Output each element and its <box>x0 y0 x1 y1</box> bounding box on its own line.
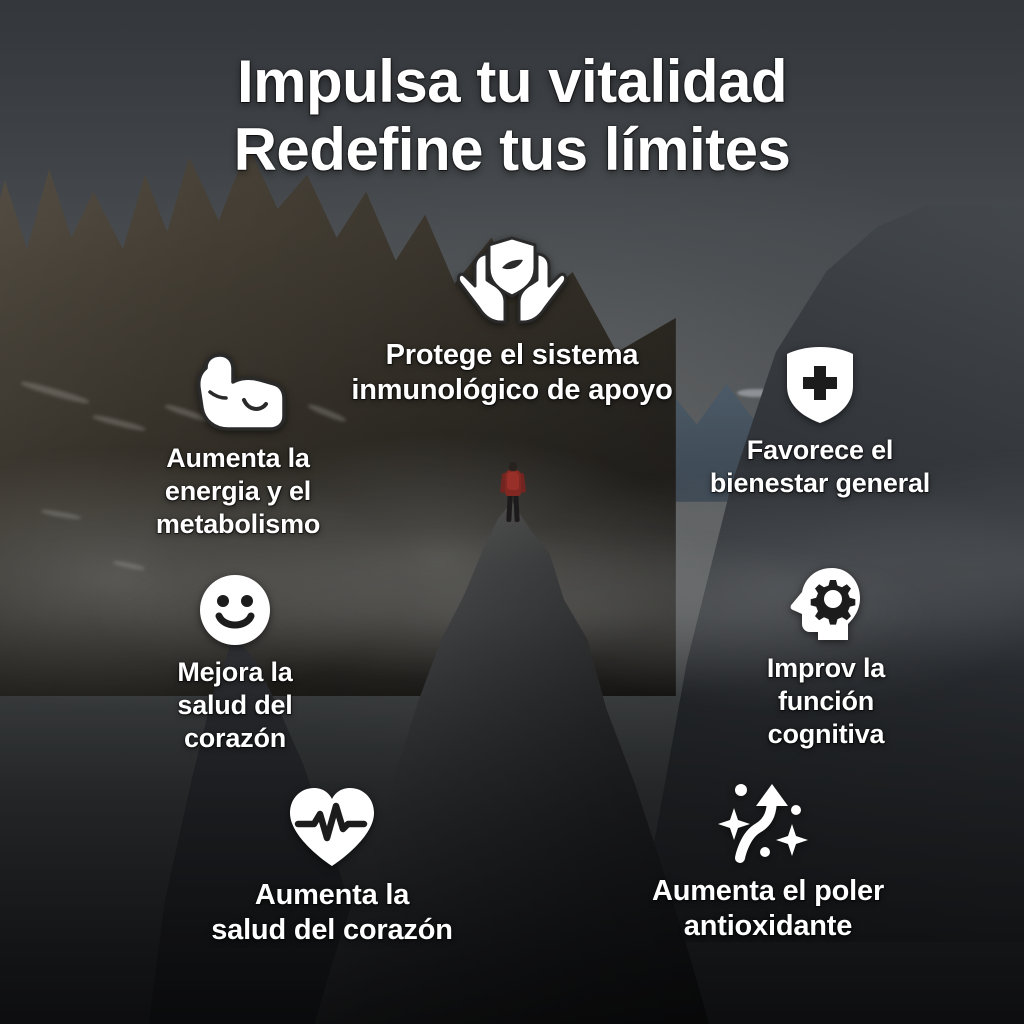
benefit-energy: Aumenta la energia y el metabolismo <box>88 352 388 541</box>
head-gear-icon <box>686 566 966 644</box>
benefit-label: Aumenta la salud del corazón <box>160 878 504 949</box>
benefit-antioxidant: Aumenta el poler antioxidante <box>594 780 942 945</box>
benefit-wellness: Favorece el bienestar general <box>648 344 992 500</box>
poster-content: Impulsa tu vitalidad Redefine tus límite… <box>0 0 1024 1024</box>
rising-arrow-sparkles-icon <box>594 780 942 866</box>
benefit-label: Improv la función cognitiva <box>686 652 966 751</box>
headline-line-2: Redefine tus límites <box>0 116 1024 184</box>
benefit-cognitive: Improv la función cognitiva <box>686 566 966 751</box>
flexed-bicep-icon <box>88 352 388 434</box>
shield-plus-icon <box>648 344 992 426</box>
poster-headline: Impulsa tu vitalidad Redefine tus límite… <box>0 48 1024 185</box>
benefit-mood: Mejora la salud del corazón <box>90 572 380 755</box>
hands-holding-shield-leaf-icon <box>282 232 742 330</box>
heart-pulse-icon <box>160 784 504 870</box>
infographic-poster: Impulsa tu vitalidad Redefine tus límite… <box>0 0 1024 1024</box>
benefit-label: Favorece el bienestar general <box>648 434 992 500</box>
benefit-label: Aumenta el poler antioxidante <box>594 874 942 945</box>
benefit-label: Aumenta la energia y el metabolismo <box>88 442 388 541</box>
smiley-face-icon <box>90 572 380 648</box>
benefit-heart: Aumenta la salud del corazón <box>160 784 504 949</box>
headline-line-1: Impulsa tu vitalidad <box>237 48 787 115</box>
benefit-label: Mejora la salud del corazón <box>90 656 380 755</box>
